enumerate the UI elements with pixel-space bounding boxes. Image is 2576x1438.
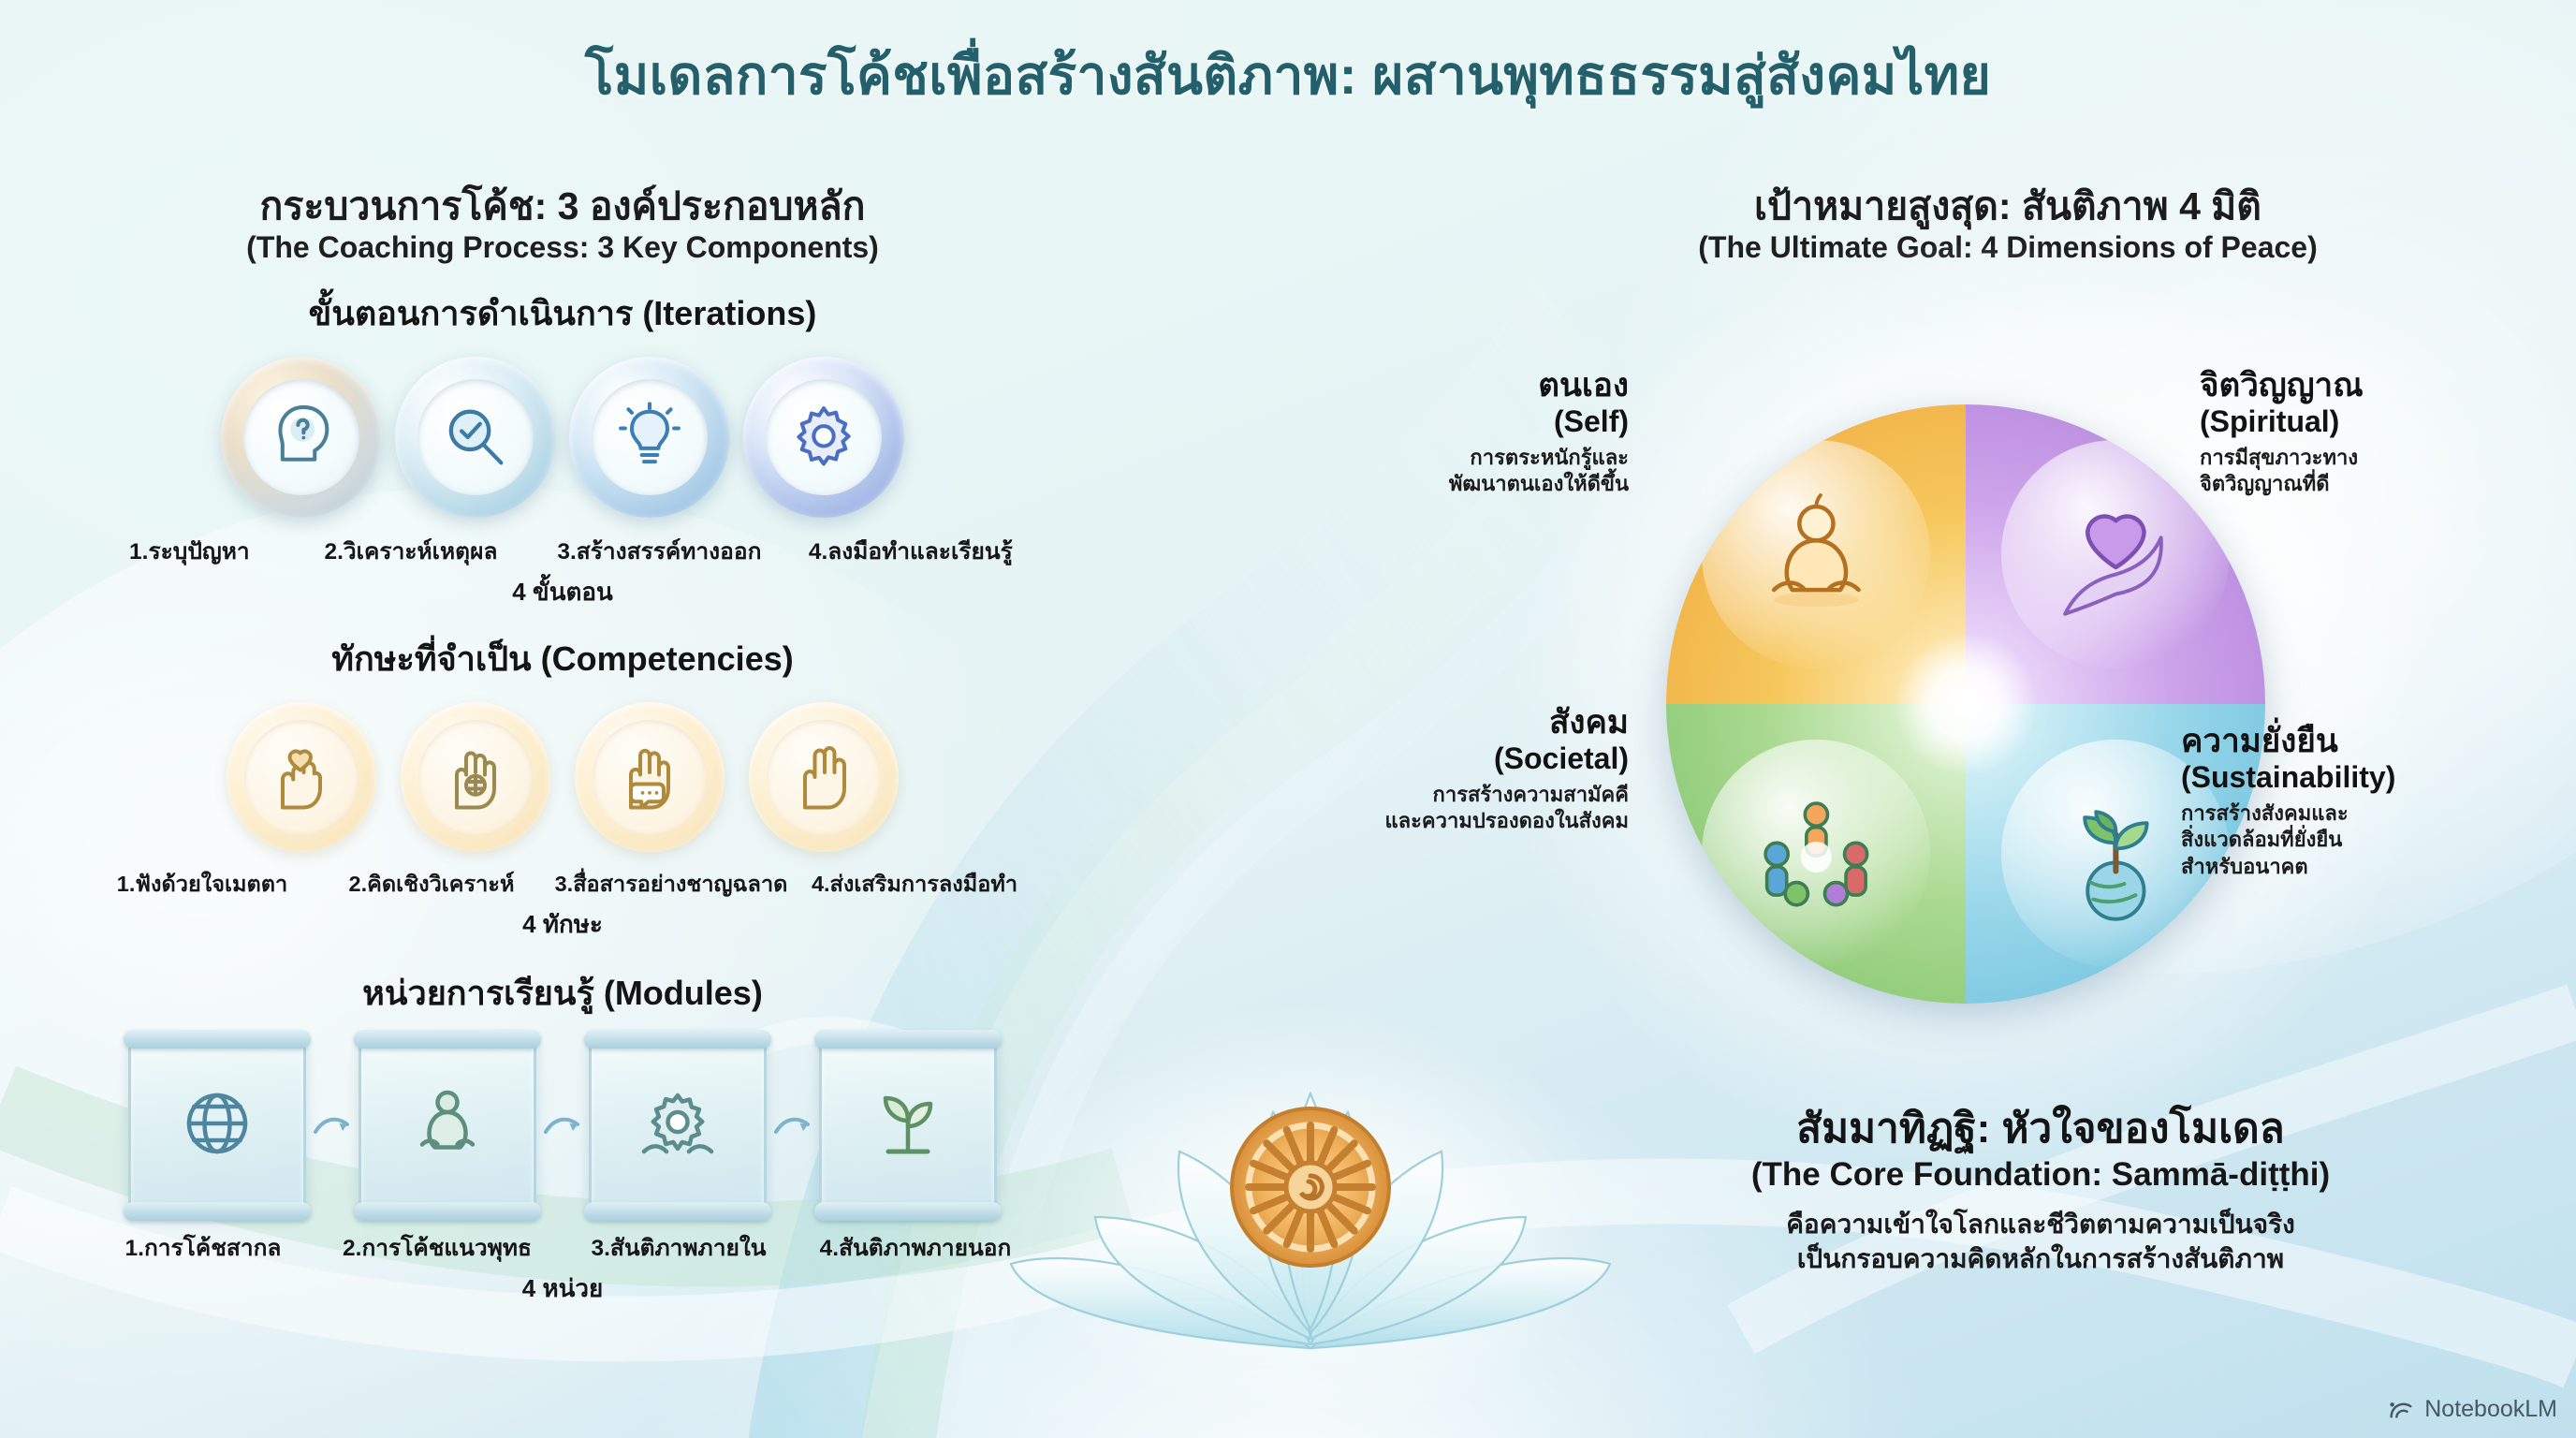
competencies-icon-row [90, 702, 1035, 852]
ultimate-goal-title-th: เป้าหมายสูงสุด: สันติภาพ 4 มิติ [1535, 183, 2481, 228]
iterations-count: 4 ขั้นตอน [90, 573, 1035, 611]
globe-scroll-icon [172, 1078, 262, 1173]
dimension-self-desc-2: พัฒนาตนเองให้ดีขึ้น [1310, 471, 1629, 498]
gear-icon [766, 379, 882, 495]
iteration-step-4[interactable] [743, 357, 904, 518]
dimension-societal-desc-1: การสร้างความสามัคคี [1282, 782, 1629, 809]
core-foundation-desc-2: เป็นกรอบความคิดหลักในการสร้างสันติภาพ [1591, 1241, 2490, 1277]
lightbulb-icon [592, 379, 708, 495]
iteration-label-3: 3.สร้างสรรค์ทางออก [533, 533, 785, 569]
dimension-self-en: (Self) [1310, 404, 1629, 440]
dimension-label-sustainability: ความยั่งยืน (Sustainability) การสร้างสัง… [2181, 723, 2537, 880]
competencies-count: 4 ทักษะ [90, 905, 1035, 944]
heart-path-icon [2001, 440, 2229, 668]
hand-heart-ear-icon [244, 720, 359, 834]
iteration-step-2[interactable] [395, 357, 556, 518]
module-2[interactable] [359, 1036, 536, 1214]
module-label-2: 2.การโค้ชแนวพุทธ [315, 1229, 560, 1266]
competency-1[interactable] [227, 702, 376, 852]
arrow-icon-1 [312, 1109, 353, 1141]
infographic-canvas: โมเดลการโค้ชเพื่อสร้างสันติภาพ: ผสานพุทธ… [0, 0, 2576, 1438]
left-column: กระบวนการโค้ช: 3 องค์ประกอบหลัก (The Coa… [90, 183, 1035, 1327]
dimension-label-spiritual: จิตวิญญาณ (Spiritual) การมีสุขภาวะทาง จิ… [2200, 367, 2537, 498]
iteration-step-1[interactable] [221, 357, 382, 518]
meditation-scroll-icon [402, 1078, 492, 1173]
modules-captions: 1.การโค้ชสากล 2.การโค้ชแนวพุทธ 3.สันติภา… [90, 1229, 1035, 1266]
notebooklm-label: NotebookLM [2424, 1396, 2557, 1423]
coaching-process-title-en: (The Coaching Process: 3 Key Components) [90, 228, 1035, 266]
section-modules: หน่วยการเรียนรู้ (Modules) [90, 966, 1035, 1308]
hand-speech-icon [593, 720, 707, 834]
dimension-spiritual-th: จิตวิญญาณ [2200, 367, 2537, 404]
dharma-wheel-lotus-icon [992, 936, 1629, 1423]
dimension-societal-desc-2: และความปรองดองในสังคม [1282, 808, 1629, 835]
core-foundation: สัมมาทิฏฐิ: หัวใจของโมเดล (The Core Foun… [1591, 1105, 2490, 1277]
dimension-sustainability-desc-3: สำหรับอนาคต [2181, 854, 2537, 881]
page-title: โมเดลการโค้ชเพื่อสร้างสันติภาพ: ผสานพุทธ… [0, 34, 2576, 118]
magnifier-check-icon [417, 379, 534, 495]
iterations-icon-row [90, 357, 1035, 518]
meditating-buddha-icon [1702, 440, 1929, 668]
dimension-sustainability-en: (Sustainability) [2181, 760, 2537, 796]
competencies-captions: 1.ฟังด้วยใจเมตตา 2.คิดเชิงวิเคราะห์ 3.สื… [90, 867, 1035, 902]
open-hand-icon [767, 720, 881, 834]
competency-2[interactable] [401, 702, 550, 852]
leaf-sprout-scroll-icon [863, 1078, 953, 1173]
dimension-label-self: ตนเอง (Self) การตระหนักรู้และ พัฒนาตนเอง… [1310, 367, 1629, 498]
head-question-icon [243, 379, 359, 495]
core-foundation-title-en: (The Core Foundation: Sammā-diṭṭhi) [1591, 1154, 2490, 1196]
competency-label-4: 4.ส่งเสริมการลงมือทำ [794, 867, 1035, 902]
competency-label-2: 2.คิดเชิงวิเคราะห์ [315, 867, 549, 902]
hands-gear-scroll-icon [633, 1078, 723, 1173]
modules-icon-row [90, 1036, 1035, 1214]
dimension-spiritual-desc-1: การมีสุขภาวะทาง [2200, 445, 2537, 472]
notebooklm-watermark: NotebookLM [2387, 1395, 2557, 1423]
dimension-societal-en: (Societal) [1282, 741, 1629, 777]
hand-brain-icon [418, 720, 533, 834]
iteration-step-3[interactable] [569, 357, 730, 518]
section-competencies: ทักษะที่จำเป็น (Competencies) [90, 632, 1035, 944]
dimension-self-th: ตนเอง [1310, 367, 1629, 404]
arrow-icon-3 [772, 1109, 813, 1141]
iterations-captions: 1.ระบุปัญหา 2.วิเคราะห์เหตุผล 3.สร้างสรร… [90, 533, 1035, 569]
competencies-heading: ทักษะที่จำเป็น (Competencies) [90, 632, 1035, 685]
coaching-process-header: กระบวนการโค้ช: 3 องค์ประกอบหลัก (The Coa… [90, 183, 1035, 266]
arrow-icon-2 [542, 1109, 583, 1141]
iteration-label-2: 2.วิเคราะห์เหตุผล [289, 533, 533, 569]
module-label-3: 3.สันติภาพภายใน [560, 1229, 798, 1266]
dimension-label-societal: สังคม (Societal) การสร้างความสามัคคี และ… [1282, 704, 1629, 835]
competency-4[interactable] [749, 702, 899, 852]
core-foundation-desc-1: คือความเข้าใจโลกและชีวิตตามความเป็นจริง [1591, 1207, 2490, 1242]
module-1[interactable] [128, 1036, 306, 1214]
people-circle-icon [1702, 740, 1929, 967]
iteration-label-1: 1.ระบุปัญหา [90, 533, 289, 569]
coaching-process-title-th: กระบวนการโค้ช: 3 องค์ประกอบหลัก [90, 183, 1035, 228]
dimension-sustainability-desc-1: การสร้างสังคมและ [2181, 800, 2537, 828]
dimension-sustainability-desc-2: สิ่งแวดล้อมที่ยั่งยืน [2181, 827, 2537, 854]
competency-label-1: 1.ฟังด้วยใจเมตตา [90, 867, 315, 902]
modules-heading: หน่วยการเรียนรู้ (Modules) [90, 966, 1035, 1020]
module-4[interactable] [819, 1036, 997, 1214]
core-foundation-title-th: สัมมาทิฏฐิ: หัวใจของโมเดล [1591, 1105, 2490, 1154]
module-3[interactable] [589, 1036, 767, 1214]
dimension-spiritual-en: (Spiritual) [2200, 404, 2537, 440]
iterations-heading: ขั้นตอนการดำเนินการ (Iterations) [90, 286, 1035, 340]
competency-label-3: 3.สื่อสารอย่างชาญฉลาด [549, 867, 794, 902]
section-iterations: ขั้นตอนการดำเนินการ (Iterations) [90, 286, 1035, 611]
competency-3[interactable] [575, 702, 724, 852]
dimension-self-desc-1: การตระหนักรู้และ [1310, 445, 1629, 472]
dimension-societal-th: สังคม [1282, 704, 1629, 741]
modules-count: 4 หน่วย [90, 1269, 1035, 1308]
wheel-center-light [1895, 634, 2036, 774]
dimension-sustainability-th: ความยั่งยืน [2181, 723, 2537, 760]
dimension-spiritual-desc-2: จิตวิญญาณที่ดี [2200, 471, 2537, 498]
iteration-label-4: 4.ลงมือทำและเรียนรู้ [786, 533, 1035, 569]
notebooklm-icon [2387, 1395, 2415, 1423]
module-label-1: 1.การโค้ชสากล [92, 1229, 315, 1266]
